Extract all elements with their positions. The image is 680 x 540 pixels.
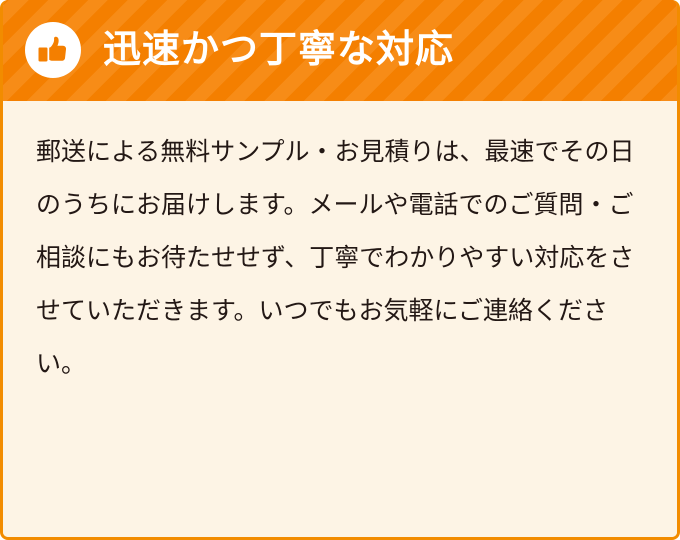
thumbs-up-icon (25, 22, 81, 78)
card-body-text: 郵送による無料サンプル・お見積りは、最速でその日のうちにお届けします。メールや電… (36, 125, 644, 390)
card-body: 郵送による無料サンプル・お見積りは、最速でその日のうちにお届けします。メールや電… (3, 101, 677, 537)
feature-card: 迅速かつ丁寧な対応 郵送による無料サンプル・お見積りは、最速でその日のうちにお届… (0, 0, 680, 540)
card-title: 迅速かつ丁寧な対応 (103, 0, 454, 101)
card-header: 迅速かつ丁寧な対応 (0, 0, 680, 101)
